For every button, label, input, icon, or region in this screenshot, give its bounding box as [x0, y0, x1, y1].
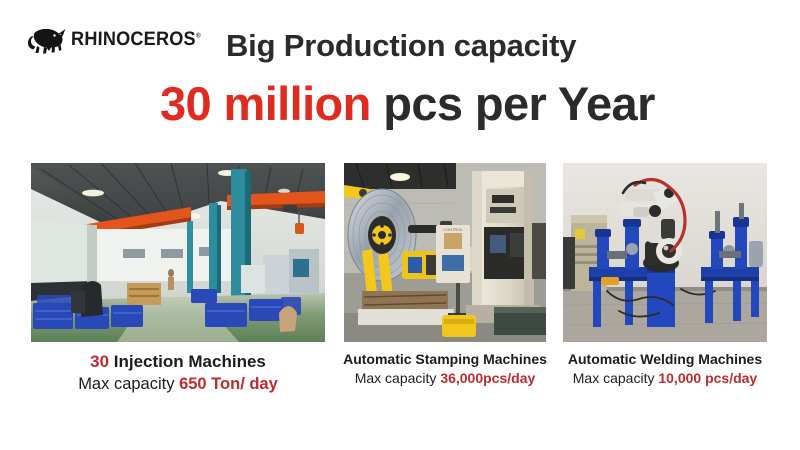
- automatic-welding-robot-illustration: [563, 163, 767, 342]
- brand-logo: RHINOCEROS®: [26, 24, 211, 56]
- caption-line-1: Automatic Welding Machines: [557, 350, 773, 369]
- caption-welding-machines: Automatic Welding Machines Max capacity …: [557, 350, 773, 389]
- photo-gallery: CONTROL: [0, 163, 800, 342]
- page-title: Big Production capacity: [226, 28, 576, 64]
- caption-line-2: Max capacity 650 Ton/ day: [31, 373, 325, 396]
- svg-text:CONTROL: CONTROL: [443, 227, 463, 232]
- photo-captions: 30 Injection Machines Max capacity 650 T…: [0, 350, 800, 400]
- caption-injection-machines: 30 Injection Machines Max capacity 650 T…: [31, 350, 325, 396]
- page-subtitle: 30 million pcs per Year: [160, 78, 655, 131]
- injection-machine-count: 30: [90, 352, 109, 371]
- capacity-figure: 30 million: [160, 77, 371, 130]
- caption-line-1: Automatic Stamping Machines: [337, 350, 553, 369]
- brand-wordmark-text: RHINOCEROS: [71, 28, 196, 50]
- caption-stamping-machines: Automatic Stamping Machines Max capacity…: [337, 350, 553, 389]
- injection-molding-workshop-illustration: [31, 163, 325, 342]
- production-capacity-slide: RHINOCEROS® Big Production capacity 30 m…: [0, 0, 800, 450]
- welding-capacity-prefix: Max capacity: [573, 370, 659, 386]
- stamping-capacity-prefix: Max capacity: [355, 370, 441, 386]
- injection-capacity-prefix: Max capacity: [78, 375, 179, 393]
- welding-machine-label: Automatic Welding Machines: [568, 351, 762, 367]
- caption-line-2: Max capacity 36,000pcs/day: [337, 369, 553, 388]
- automatic-stamping-machine-illustration: CONTROL: [344, 163, 546, 342]
- caption-line-2: Max capacity 10,000 pcs/day: [557, 369, 773, 388]
- registered-trademark-icon: ®: [196, 33, 201, 40]
- stamping-capacity-value: 36,000pcs/day: [440, 370, 535, 386]
- welding-capacity-value: 10,000 pcs/day: [658, 370, 757, 386]
- brand-wordmark: RHINOCEROS®: [71, 30, 201, 50]
- injection-capacity-value: 650 Ton/ day: [179, 375, 278, 393]
- rhinoceros-logo-icon: [26, 25, 68, 55]
- automatic-stamping-machine-photo: CONTROL: [344, 163, 546, 342]
- stamping-machine-label: Automatic Stamping Machines: [343, 351, 547, 367]
- caption-line-1: 30 Injection Machines: [31, 350, 325, 373]
- injection-molding-workshop-photo: [31, 163, 325, 342]
- automatic-welding-robot-photo: [563, 163, 767, 342]
- injection-machine-label: Injection Machines: [109, 352, 266, 371]
- capacity-unit: pcs per Year: [371, 77, 655, 130]
